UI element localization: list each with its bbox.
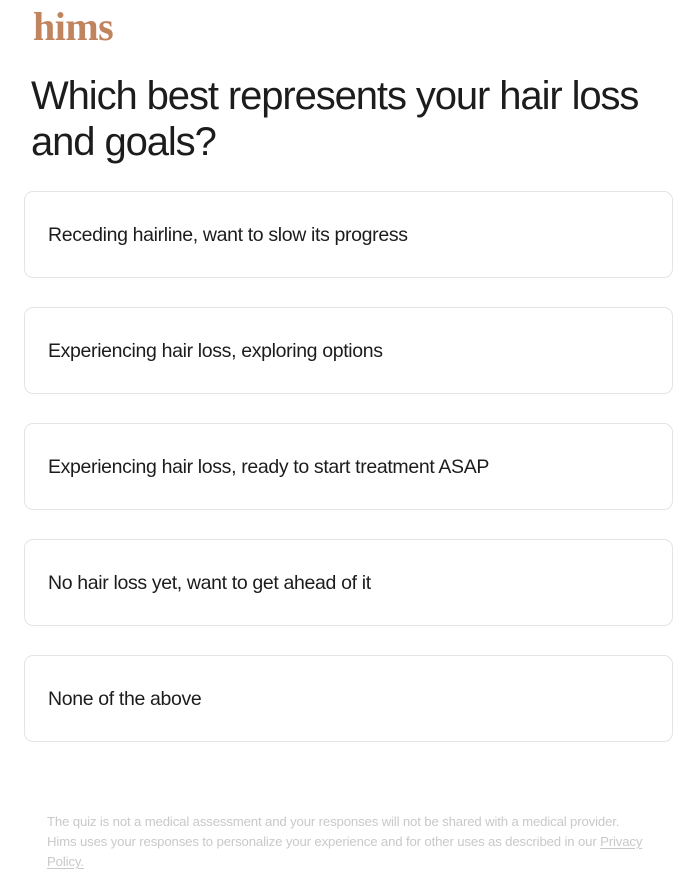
option-no-loss-yet[interactable]: No hair loss yet, want to get ahead of i… xyxy=(24,539,673,626)
page-title: Which best represents your hair loss and… xyxy=(31,73,671,165)
option-label: No hair loss yet, want to get ahead of i… xyxy=(48,570,371,596)
quiz-page: hims Which best represents your hair los… xyxy=(0,0,697,879)
option-receding-hairline[interactable]: Receding hairline, want to slow its prog… xyxy=(24,191,673,278)
option-label: Experiencing hair loss, ready to start t… xyxy=(48,454,489,480)
option-label: Experiencing hair loss, exploring option… xyxy=(48,338,383,364)
option-exploring-options[interactable]: Experiencing hair loss, exploring option… xyxy=(24,307,673,394)
disclaimer-text: The quiz is not a medical assessment and… xyxy=(47,814,619,849)
hims-logo: hims xyxy=(33,4,113,50)
option-list: Receding hairline, want to slow its prog… xyxy=(24,191,673,742)
disclaimer: The quiz is not a medical assessment and… xyxy=(47,812,647,872)
option-label: None of the above xyxy=(48,686,201,712)
option-ready-asap[interactable]: Experiencing hair loss, ready to start t… xyxy=(24,423,673,510)
option-none-of-the-above[interactable]: None of the above xyxy=(24,655,673,742)
option-label: Receding hairline, want to slow its prog… xyxy=(48,222,408,248)
